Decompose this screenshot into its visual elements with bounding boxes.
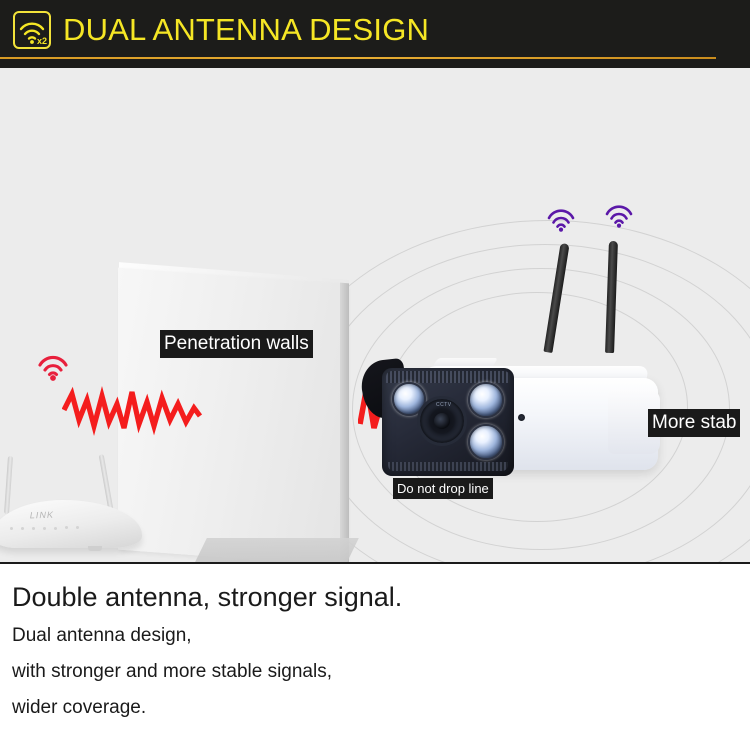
router-antenna-left xyxy=(4,456,13,514)
svg-text:x2: x2 xyxy=(37,36,47,46)
label-do-not-drop-line: Do not drop line xyxy=(393,478,493,499)
label-penetration-walls: Penetration walls xyxy=(160,330,313,358)
router-foot xyxy=(88,546,102,551)
caption-line: Dual antenna design, xyxy=(12,625,192,647)
router-logo: LINK xyxy=(29,510,55,521)
caption-line: with stronger and more stable signals, xyxy=(12,661,332,683)
router-led xyxy=(32,527,35,530)
router-led xyxy=(65,526,68,529)
caption-block: Double antenna, stronger signal. Dual an… xyxy=(0,569,750,750)
product-illustration: LINK xyxy=(0,68,750,564)
camera-face-ridge-bottom xyxy=(388,462,508,471)
label-more-stable: More stab xyxy=(648,409,740,437)
router-led xyxy=(10,527,13,530)
wall-side-edge xyxy=(340,283,349,564)
signal-wave-left xyxy=(62,374,202,449)
page-title: DUAL ANTENNA DESIGN xyxy=(63,11,429,49)
camera-lens-label: CCTV xyxy=(436,402,452,408)
camera-lens: CCTV xyxy=(417,396,467,446)
wifi-signal-icon-antenna-right xyxy=(604,204,634,234)
wifi-router: LINK xyxy=(0,458,167,558)
caption-line: wider coverage. xyxy=(12,697,146,719)
wall-shadow xyxy=(193,538,359,564)
header-divider xyxy=(0,57,716,59)
router-led xyxy=(54,527,57,530)
header-bar: x2 DUAL ANTENNA DESIGN xyxy=(0,0,750,68)
camera-screw xyxy=(518,414,525,421)
header-content: x2 DUAL ANTENNA DESIGN xyxy=(13,9,429,51)
router-led xyxy=(76,526,79,529)
security-camera: CCTV xyxy=(358,306,658,496)
wifi-signal-icon-antenna-left xyxy=(546,208,576,238)
camera-lens-aperture xyxy=(434,413,450,429)
scene-bottom-border xyxy=(0,562,750,564)
router-body xyxy=(0,500,142,548)
camera-face-ridge-top xyxy=(386,371,510,383)
router-led xyxy=(43,527,46,530)
router-led xyxy=(21,527,24,530)
camera-led-top-right xyxy=(468,382,504,418)
wifi-x2-icon: x2 xyxy=(13,11,51,49)
camera-led-bottom-right xyxy=(468,424,504,460)
caption-heading: Double antenna, stronger signal. xyxy=(12,582,402,613)
